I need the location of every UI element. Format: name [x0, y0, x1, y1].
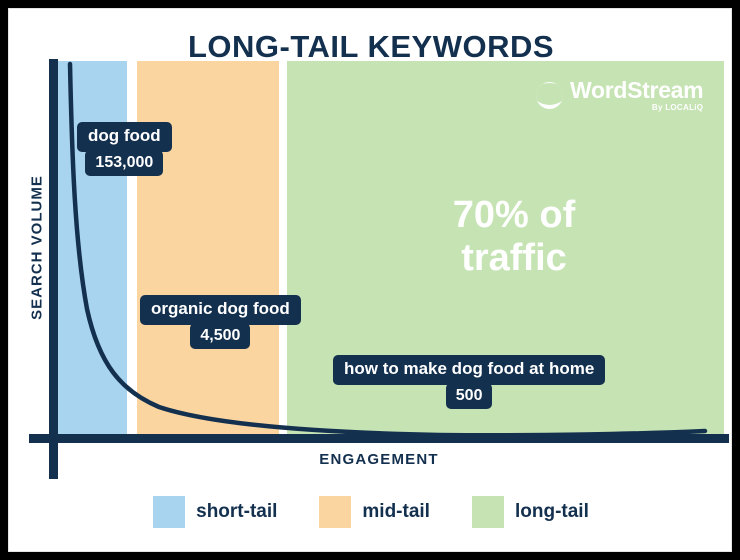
image-frame: LONG-TAIL KEYWORDS WordStream By LOCALiQ… — [0, 0, 740, 560]
chart-legend: short-tail mid-tail long-tail — [9, 496, 732, 528]
x-axis-label: ENGAGEMENT — [209, 451, 549, 468]
legend-item-long-tail: long-tail — [472, 496, 589, 528]
legend-label-short-tail: short-tail — [196, 501, 277, 523]
legend-swatch-short-tail — [153, 496, 185, 528]
keyword-badge-long-tail: how to make dog food at home 500 — [333, 355, 605, 409]
y-axis-label: SEARCH VOLUME — [29, 148, 46, 348]
logo-wordmark: WordStream — [570, 79, 703, 102]
logo-subtitle: By LOCALiQ — [570, 104, 703, 112]
keyword-volume: 4,500 — [190, 323, 250, 350]
legend-item-mid-tail: mid-tail — [319, 496, 430, 528]
wordstream-wave-icon — [536, 82, 563, 109]
keyword-volume: 153,000 — [85, 150, 163, 177]
legend-label-long-tail: long-tail — [515, 501, 589, 523]
keyword-volume-wrap: 153,000 — [77, 152, 172, 177]
keyword-label: dog food — [77, 122, 172, 152]
keyword-badge-mid-tail: organic dog food 4,500 — [140, 295, 301, 349]
keyword-volume-wrap: 500 — [333, 385, 605, 410]
legend-swatch-long-tail — [472, 496, 504, 528]
legend-item-short-tail: short-tail — [153, 496, 277, 528]
chart-canvas: LONG-TAIL KEYWORDS WordStream By LOCALiQ… — [8, 8, 732, 552]
traffic-callout: 70% of traffic — [394, 194, 634, 279]
logo-text: WordStream By LOCALiQ — [570, 79, 703, 112]
keyword-volume-wrap: 4,500 — [140, 325, 301, 350]
keyword-label: organic dog food — [140, 295, 301, 325]
keyword-badge-short-tail: dog food 153,000 — [77, 122, 172, 176]
wordstream-logo: WordStream By LOCALiQ — [536, 79, 703, 112]
band-mid-tail — [137, 61, 279, 435]
plot-area: WordStream By LOCALiQ 70% of traffic SEA… — [9, 9, 732, 552]
legend-swatch-mid-tail — [319, 496, 351, 528]
band-short-tail — [54, 61, 127, 435]
x-axis-line — [29, 434, 729, 443]
keyword-label: how to make dog food at home — [333, 355, 605, 385]
legend-label-mid-tail: mid-tail — [362, 501, 430, 523]
traffic-callout-line1: 70% of — [394, 194, 634, 237]
traffic-callout-line2: traffic — [394, 237, 634, 280]
y-axis-line — [49, 59, 58, 479]
keyword-volume: 500 — [446, 383, 493, 410]
